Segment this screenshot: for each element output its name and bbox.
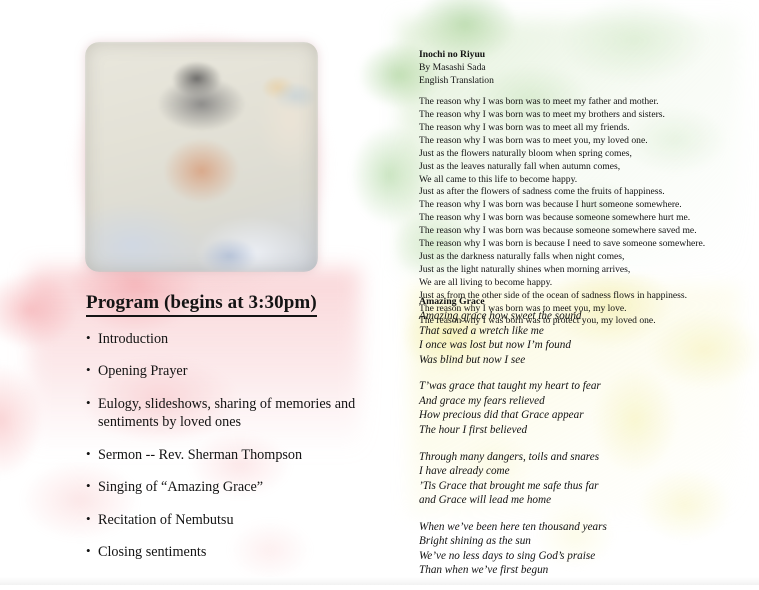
poem-line: The reason why I was born was because so… — [419, 225, 729, 238]
program-item: Closing sentiments — [86, 543, 376, 561]
hymn-line: Was blind but now I see — [419, 353, 719, 368]
poem-line: We all came to this life to become happy… — [419, 174, 729, 187]
poem-line: Just as the darkness naturally falls whe… — [419, 251, 729, 264]
program-item: Recitation of Nembutsu — [86, 511, 376, 529]
hymn-line: When we’ve been here ten thousand years — [419, 520, 719, 535]
poem-line: Just as the flowers naturally bloom when… — [419, 148, 729, 161]
program-title: Program (begins at 3:30pm) — [86, 292, 317, 317]
program-item: Opening Prayer — [86, 362, 376, 380]
hymn-line: Amazing grace how sweet the sound — [419, 309, 719, 324]
poem-section: Inochi no Riyuu By Masashi Sada English … — [419, 49, 729, 328]
poem-title: Inochi no Riyuu — [419, 49, 729, 62]
hymn-line: and Grace will lead me home — [419, 493, 719, 508]
hymn-line: The hour I first believed — [419, 423, 719, 438]
poem-line: The reason why I was born was to meet al… — [419, 122, 729, 135]
portrait-vignette — [85, 42, 318, 272]
program-item-list: Introduction Opening Prayer Eulogy, slid… — [86, 330, 376, 562]
hymn-line: I once was lost but now I’m found — [419, 338, 719, 353]
poem-body: The reason why I was born was to meet my… — [419, 96, 729, 328]
hymn-line: T’was grace that taught my heart to fear — [419, 379, 719, 394]
poem-line: The reason why I was born is because I n… — [419, 238, 729, 251]
poem-line: The reason why I was born was because I … — [419, 199, 729, 212]
hymn-line: How precious did that Grace appear — [419, 408, 719, 423]
hymn-section: Amazing Grace Amazing grace how sweet th… — [419, 296, 719, 590]
hymn-verse: T’was grace that taught my heart to fear… — [419, 379, 719, 437]
hymn-line: And grace my fears relieved — [419, 394, 719, 409]
poem-line: Just as after the flowers of sadness com… — [419, 186, 729, 199]
poem-author: By Masashi Sada — [419, 62, 729, 75]
hymn-line: I have already come — [419, 464, 719, 479]
memorial-portrait-photo — [85, 42, 318, 272]
hymn-line: Bright shining as the sun — [419, 534, 719, 549]
program-section: Program (begins at 3:30pm) Introduction … — [86, 292, 376, 576]
poem-line: The reason why I was born was to meet yo… — [419, 135, 729, 148]
hymn-verse: When we’ve been here ten thousand years … — [419, 520, 719, 578]
hymn-line: Than when we’ve first begun — [419, 563, 719, 578]
poem-line: The reason why I was born was to meet my… — [419, 109, 729, 122]
hymn-verse: Amazing grace how sweet the sound That s… — [419, 309, 719, 367]
poem-line: The reason why I was born was to meet my… — [419, 96, 729, 109]
poem-line: Just as the light naturally shines when … — [419, 264, 729, 277]
program-item: Singing of “Amazing Grace” — [86, 478, 376, 496]
hymn-line: ’Tis Grace that brought me safe thus far — [419, 479, 719, 494]
poem-heading: Inochi no Riyuu By Masashi Sada English … — [419, 49, 729, 87]
poem-line: The reason why I was born was because so… — [419, 212, 729, 225]
program-item: Introduction — [86, 330, 376, 348]
hymn-line: Through many dangers, toils and snares — [419, 450, 719, 465]
poem-line: We are all living to become happy. — [419, 277, 729, 290]
poem-note: English Translation — [419, 75, 729, 88]
hymn-line: We’ve no less days to sing God’s praise — [419, 549, 719, 564]
hymn-verse: Through many dangers, toils and snares I… — [419, 450, 719, 508]
hymn-title: Amazing Grace — [419, 296, 719, 307]
poem-line: Just as the leaves naturally fall when a… — [419, 161, 729, 174]
program-item: Eulogy, slideshows, sharing of memories … — [86, 395, 376, 432]
hymn-line: That saved a wretch like me — [419, 324, 719, 339]
program-item: Sermon -- Rev. Sherman Thompson — [86, 446, 376, 464]
